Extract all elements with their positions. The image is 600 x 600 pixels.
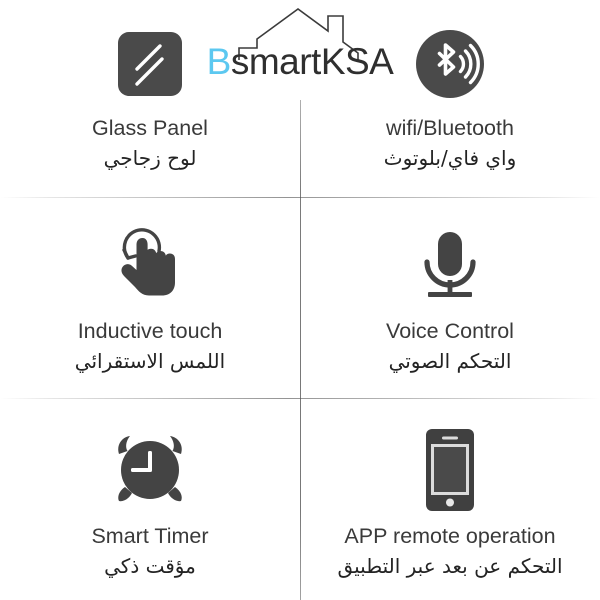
- feature-cell-inductive-touch[interactable]: Inductive touch اللمس الاستقرائي: [0, 199, 300, 398]
- features-grid: Glass Panel لوح زجاجي wifi/Bluetooth واي…: [0, 0, 600, 600]
- wifi-bluetooth-icon-box: [415, 18, 485, 110]
- feature-label-en: wifi/Bluetooth: [386, 116, 514, 141]
- feature-label-ar: واي فاي/بلوتوث: [384, 145, 517, 171]
- inductive-touch-icon-box: [113, 217, 187, 313]
- feature-label-ar: التحكم عن بعد عبر التطبيق: [337, 553, 562, 579]
- feature-cell-app-remote-operation[interactable]: APP remote operation التحكم عن بعد عبر ا…: [300, 400, 600, 600]
- microphone-icon: [414, 226, 486, 304]
- smartphone-icon-box: [423, 422, 477, 518]
- feature-label-en: Smart Timer: [91, 524, 208, 549]
- microphone-icon-box: [414, 217, 486, 313]
- alarm-clock-icon-box: [111, 422, 189, 518]
- feature-cell-smart-timer[interactable]: Smart Timer مؤقت ذكي: [0, 400, 300, 600]
- feature-cell-glass-panel[interactable]: Glass Panel لوح زجاجي: [0, 0, 300, 197]
- inductive-touch-icon: [113, 225, 187, 305]
- wifi-bluetooth-icon: [415, 29, 485, 99]
- alarm-clock-icon: [111, 432, 189, 508]
- feature-grid-page: BsmartKSA Glass Panel لوح زجاجي: [0, 0, 600, 600]
- feature-label-en: Inductive touch: [78, 319, 223, 344]
- feature-label-en: Glass Panel: [92, 116, 208, 141]
- feature-label-ar: اللمس الاستقرائي: [75, 348, 225, 374]
- feature-label-ar: لوح زجاجي: [104, 145, 197, 171]
- smartphone-icon: [423, 427, 477, 513]
- feature-cell-wifi-bluetooth[interactable]: wifi/Bluetooth واي فاي/بلوتوث: [300, 0, 600, 197]
- feature-label-ar: التحكم الصوتي: [389, 348, 512, 374]
- feature-label-ar: مؤقت ذكي: [104, 553, 196, 579]
- feature-cell-voice-control[interactable]: Voice Control التحكم الصوتي: [300, 199, 600, 398]
- glass-panel-icon: [117, 31, 183, 97]
- glass-panel-icon-box: [117, 18, 183, 110]
- feature-label-en: APP remote operation: [344, 524, 555, 549]
- feature-label-en: Voice Control: [386, 319, 514, 344]
